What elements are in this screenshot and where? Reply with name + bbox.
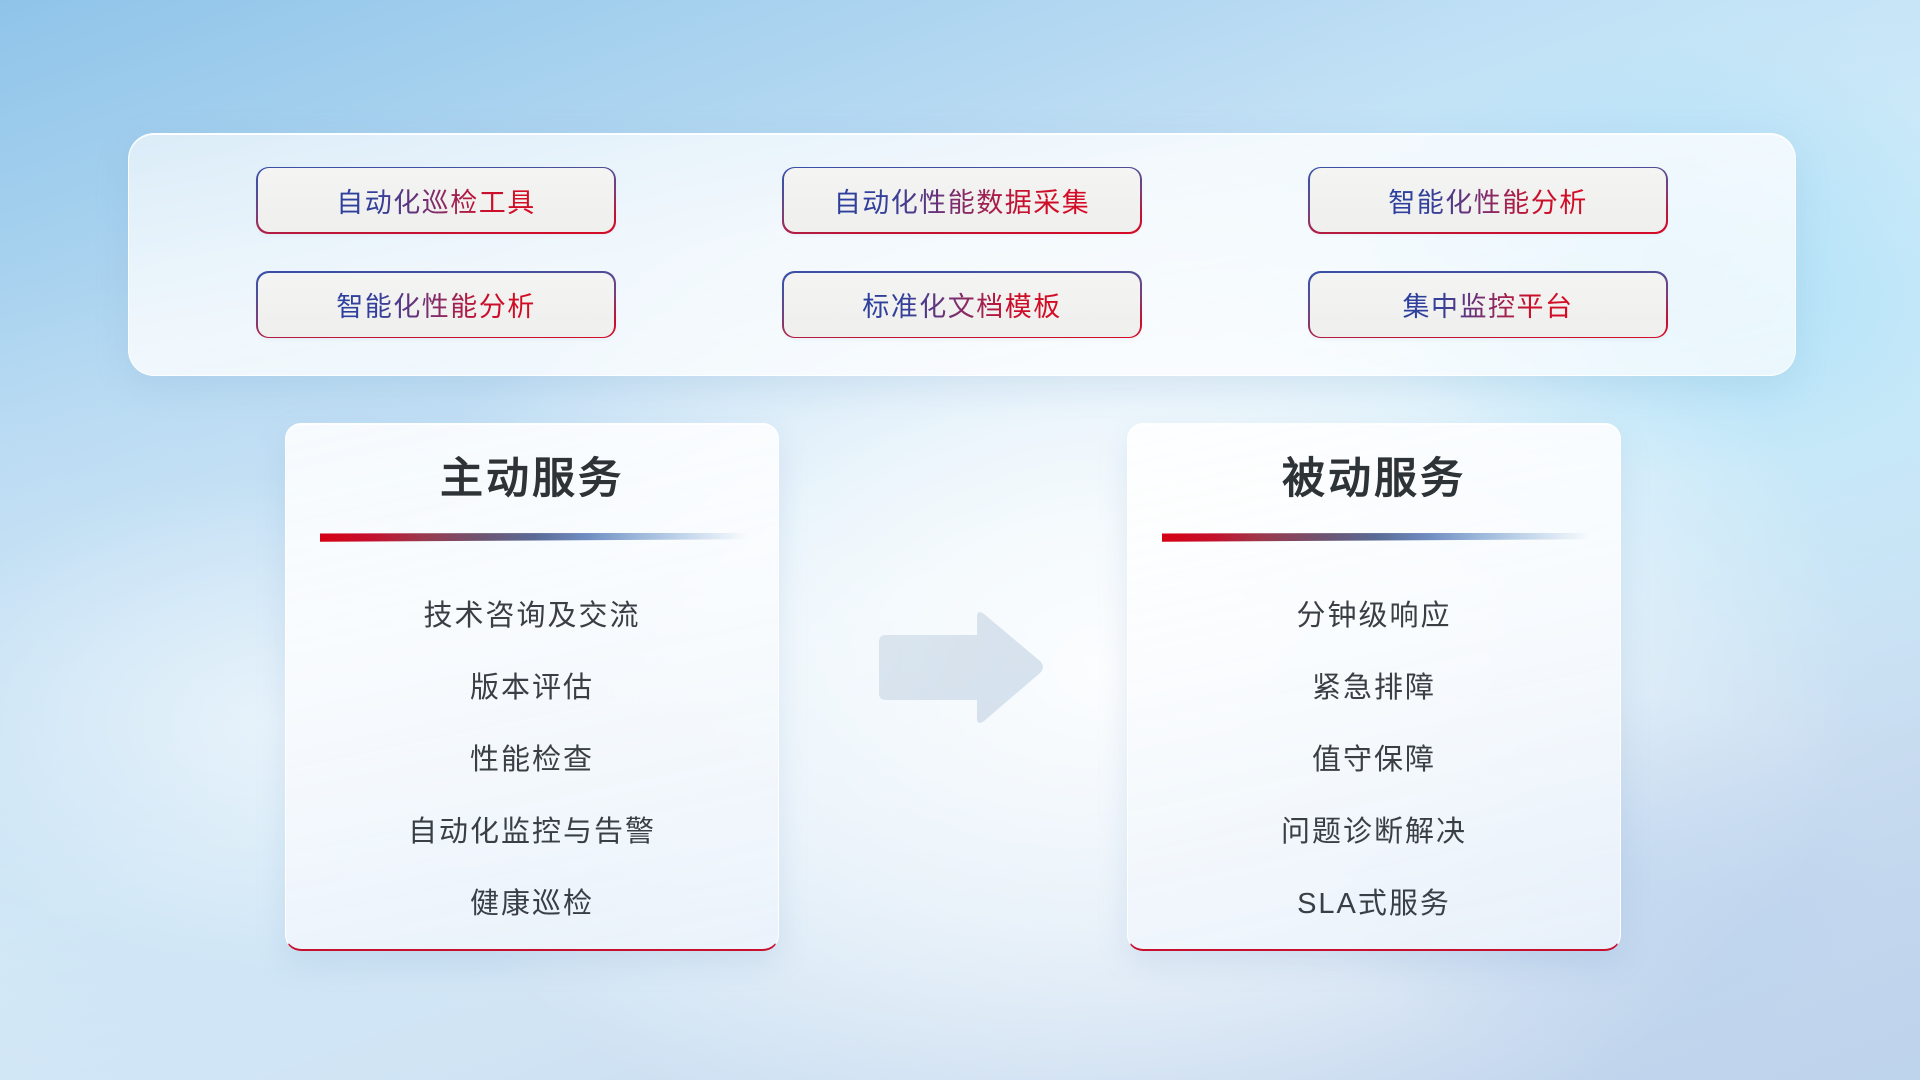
card-accent-bar	[1162, 533, 1590, 542]
capability-pill-label: 智能化性能分析	[1388, 181, 1588, 220]
capability-pill-2[interactable]: 自动化性能数据采集	[784, 168, 1140, 232]
capability-pill-6[interactable]: 集中监控平台	[1310, 273, 1666, 337]
list-item: 值守保障	[1162, 724, 1586, 796]
card-title: 被动服务	[1162, 454, 1586, 505]
list-item: SLA式服务	[1162, 868, 1586, 940]
list-item: 问题诊断解决	[1162, 796, 1586, 868]
capability-pill-label: 集中监控平台	[1403, 285, 1574, 324]
capability-pill-3[interactable]: 智能化性能分析	[1310, 168, 1666, 232]
card-accent-bar	[320, 533, 748, 542]
capability-pill-label: 标准化文档模板	[862, 285, 1062, 324]
list-item: 性能检查	[320, 724, 744, 796]
list-item: 紧急排障	[1162, 652, 1586, 724]
capability-pill-label: 自动化性能数据采集	[834, 181, 1091, 220]
arrow-right-icon	[873, 608, 1047, 728]
list-item: 健康巡检	[320, 868, 744, 940]
capability-pill-label: 自动化巡检工具	[336, 181, 536, 220]
card-title: 主动服务	[320, 454, 744, 505]
list-item: 分钟级响应	[1162, 580, 1586, 652]
capability-tags-panel: 自动化巡检工具 自动化性能数据采集 智能化性能分析 智能化性能分析 标准化文档模…	[128, 133, 1796, 376]
card-accent-divider	[1162, 533, 1590, 542]
reactive-service-card: 被动服务 分钟级响应 紧急排障 值守保障 问题诊断解决 SLA式服务	[1127, 423, 1621, 951]
card-accent-divider	[320, 533, 748, 542]
list-item: 版本评估	[320, 652, 744, 724]
capability-pill-5[interactable]: 标准化文档模板	[784, 273, 1140, 337]
capability-pill-label: 智能化性能分析	[336, 285, 536, 324]
capability-pill-4[interactable]: 智能化性能分析	[258, 273, 614, 337]
list-item: 自动化监控与告警	[320, 796, 744, 868]
proactive-service-card: 主动服务 技术咨询及交流 版本评估 性能检查 自动化监控与告警 健康巡检	[285, 423, 779, 951]
capability-pill-1[interactable]: 自动化巡检工具	[258, 168, 614, 232]
reactive-service-list: 分钟级响应 紧急排障 值守保障 问题诊断解决 SLA式服务	[1162, 580, 1586, 940]
list-item: 技术咨询及交流	[320, 580, 744, 652]
proactive-service-list: 技术咨询及交流 版本评估 性能检查 自动化监控与告警 健康巡检	[320, 580, 744, 940]
